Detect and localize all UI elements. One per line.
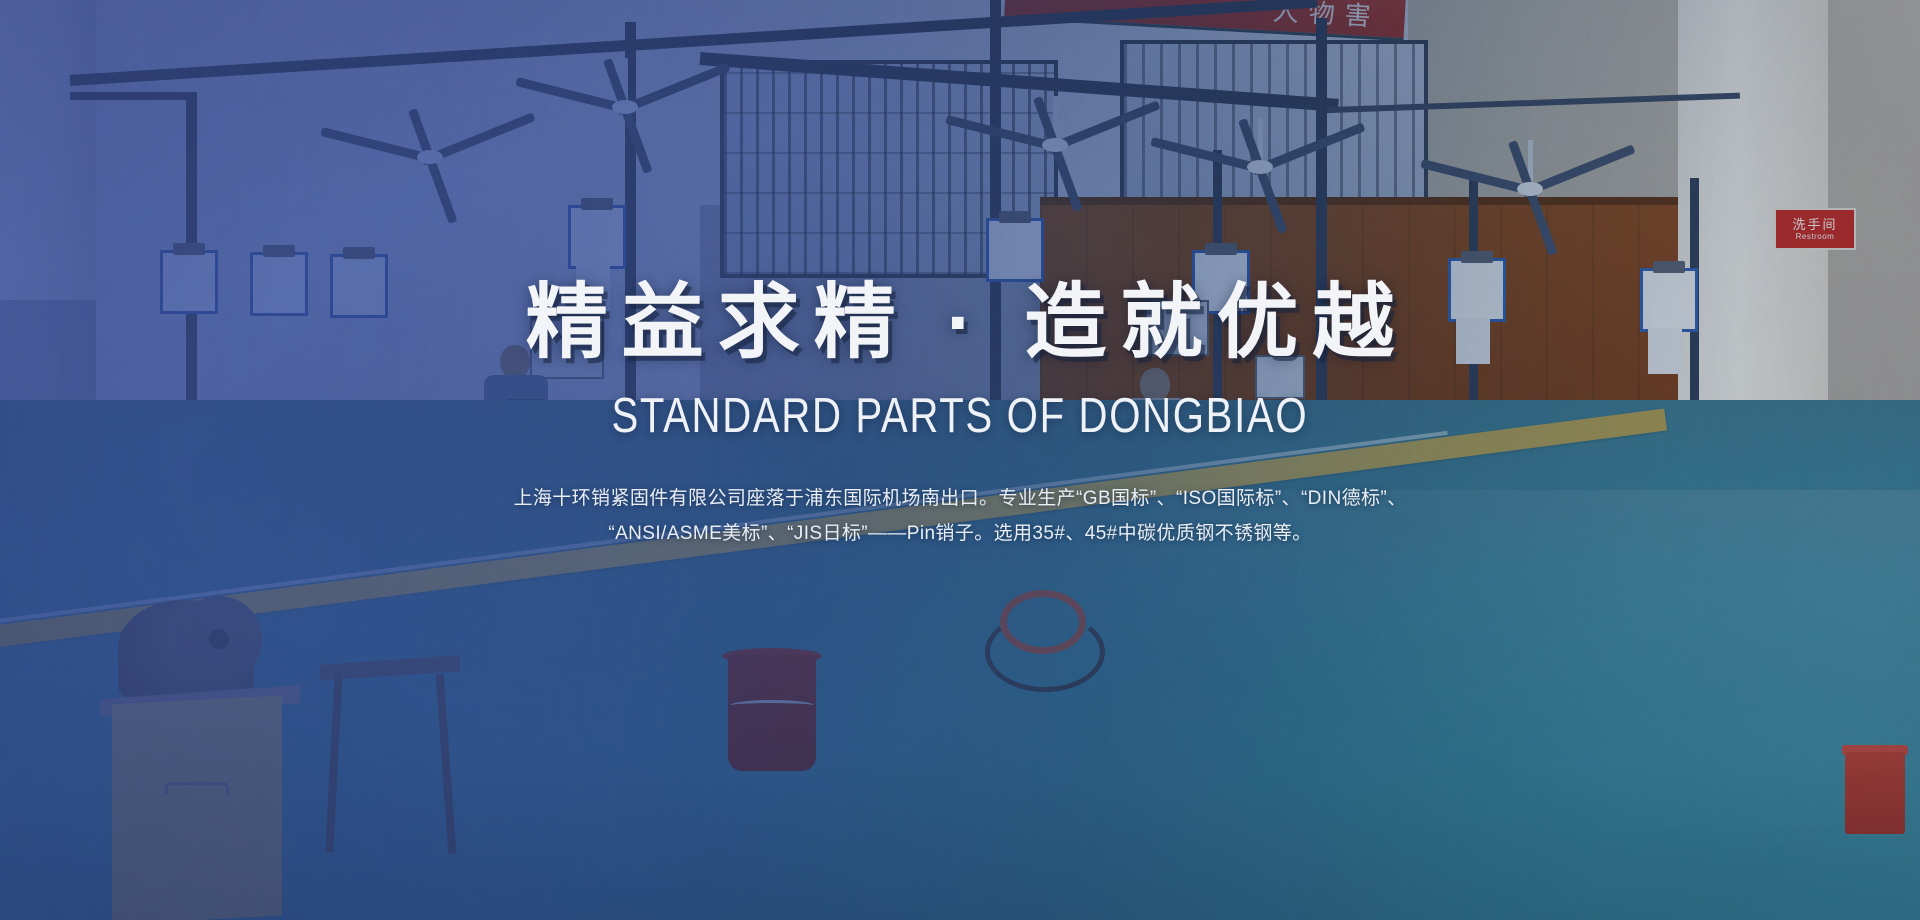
- hero-description: 上海十环销紧固件有限公司座落于浦东国际机场南出口。专业生产“GB国标”、“ISO…: [475, 481, 1445, 551]
- hero-subheadline: STANDARD PARTS OF DONGBIAO: [612, 392, 1309, 441]
- hero-banner: 人物害 洗手间 Restroom: [0, 0, 1920, 920]
- hero-headline: 精益求精 · 造就优越: [512, 282, 1409, 364]
- hero-content: 精益求精 · 造就优越 STANDARD PARTS OF DONGBIAO 上…: [0, 0, 1920, 920]
